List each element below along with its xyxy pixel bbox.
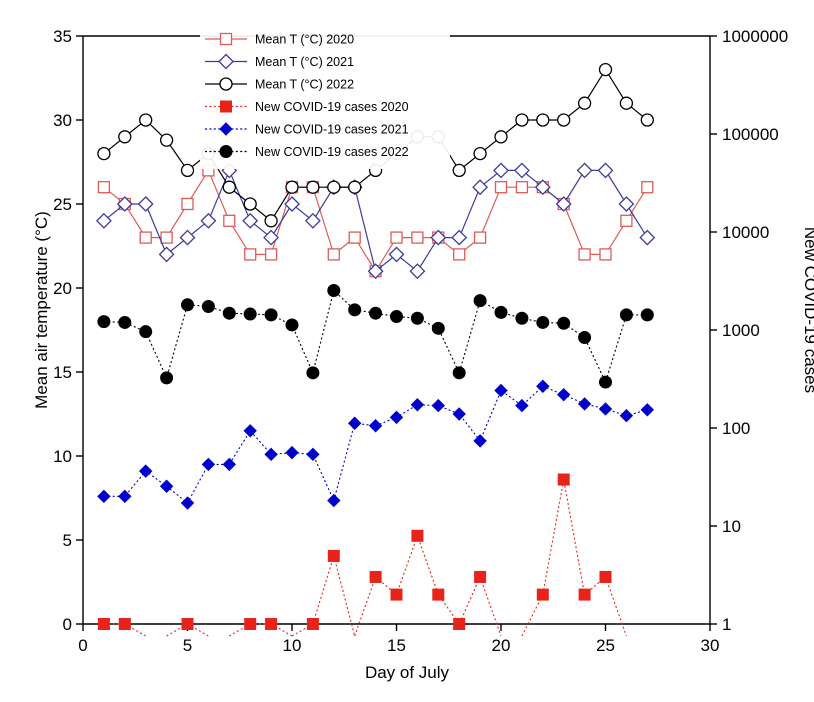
data-point (328, 550, 339, 561)
data-point (140, 465, 152, 477)
legend-label-4: New COVID-19 cases 2021 (255, 123, 409, 137)
data-point (328, 285, 340, 297)
x-axis-tick-label: 15 (387, 636, 406, 655)
data-point (452, 231, 466, 245)
data-point (619, 197, 633, 211)
data-point (266, 619, 277, 630)
data-point (265, 448, 277, 460)
data-point (412, 232, 423, 243)
data-point (453, 164, 465, 176)
data-point (244, 198, 256, 210)
data-point (558, 389, 570, 401)
data-point (307, 367, 319, 379)
data-point (558, 317, 570, 329)
data-point (620, 97, 632, 109)
x-axis-tick-label: 20 (492, 636, 511, 655)
data-point (516, 114, 528, 126)
data-point (119, 619, 130, 630)
chart-canvas: 0510152025303511010010001000010000010000… (0, 0, 814, 702)
y-axis-left-tick-label: 15 (53, 363, 72, 382)
legend-label-5: New COVID-19 cases 2022 (255, 145, 409, 159)
data-point (161, 480, 173, 492)
data-point (453, 367, 465, 379)
data-point (495, 384, 507, 396)
data-point (558, 114, 570, 126)
data-point (496, 182, 507, 193)
data-point (202, 458, 214, 470)
data-point (202, 300, 214, 312)
series-4 (98, 380, 653, 509)
legend-label-0: Mean T (°C) 2020 (255, 33, 354, 47)
data-point (370, 307, 382, 319)
data-point (119, 316, 131, 328)
y-axis-left-tick-label: 5 (63, 531, 72, 550)
legend-marker-3 (221, 101, 232, 112)
x-axis-tick-label: 5 (183, 636, 192, 655)
chart-legend: Mean T (°C) 2020Mean T (°C) 2021Mean T (… (200, 26, 450, 169)
data-point (306, 214, 320, 228)
series-3 (98, 474, 626, 636)
data-point (537, 316, 549, 328)
legend-label-1: Mean T (°C) 2021 (255, 55, 354, 69)
data-point (286, 447, 298, 459)
data-point (370, 571, 381, 582)
data-point (307, 619, 318, 630)
data-point (223, 307, 235, 319)
legend-label-3: New COVID-19 cases 2020 (255, 100, 409, 114)
data-point (161, 134, 173, 146)
data-point (265, 309, 277, 321)
data-point (139, 197, 153, 211)
data-point (265, 215, 277, 227)
data-point (286, 319, 298, 331)
data-point (537, 589, 548, 600)
data-point (98, 182, 109, 193)
data-point (641, 309, 653, 321)
data-point (97, 214, 111, 228)
data-point (182, 299, 194, 311)
data-point (475, 571, 486, 582)
data-point (98, 316, 110, 328)
x-axis-tick-label: 30 (701, 636, 720, 655)
data-point (411, 312, 423, 324)
data-point (98, 148, 110, 160)
data-point (349, 181, 361, 193)
data-point (182, 497, 194, 509)
data-point (182, 164, 194, 176)
data-point (474, 148, 486, 160)
data-point (349, 304, 361, 316)
data-point (495, 306, 507, 318)
data-point (473, 180, 487, 194)
data-point (433, 589, 444, 600)
data-point (494, 163, 508, 177)
data-point (516, 312, 528, 324)
x-axis-tick-label: 0 (78, 636, 87, 655)
y-axis-right-tick-label: 1000000 (722, 27, 788, 46)
data-point (245, 249, 256, 260)
data-point (140, 114, 152, 126)
y-axis-right-tick-label: 100000 (722, 125, 779, 144)
data-point (600, 376, 612, 388)
data-point (182, 199, 193, 210)
data-point (432, 322, 444, 334)
data-point (641, 404, 653, 416)
data-point (516, 182, 527, 193)
y-axis-left-tick-label: 35 (53, 27, 72, 46)
legend-label-2: Mean T (°C) 2022 (255, 78, 354, 92)
y-axis-right-tick-label: 100 (722, 419, 750, 438)
data-point (600, 249, 611, 260)
data-point (286, 181, 298, 193)
data-point (328, 181, 340, 193)
data-point (223, 458, 235, 470)
data-point (266, 249, 277, 260)
data-point (201, 214, 215, 228)
data-point (244, 308, 256, 320)
data-point (140, 232, 151, 243)
series-0 (98, 165, 652, 277)
data-point (245, 619, 256, 630)
data-point (161, 372, 173, 384)
data-point (390, 247, 404, 261)
data-point (98, 619, 109, 630)
data-point (621, 215, 632, 226)
series-line (104, 170, 647, 271)
data-point (453, 408, 465, 420)
y-axis-left-tick-label: 30 (53, 111, 72, 130)
y-axis-left-title: Mean air temperature (°C) (32, 180, 52, 440)
data-point (307, 448, 319, 460)
data-point (182, 619, 193, 630)
data-point (410, 264, 424, 278)
data-point (370, 420, 382, 432)
x-axis-title: Day of July (0, 663, 814, 683)
y-axis-right-title: New COVID-19 cases (800, 180, 814, 440)
data-point (349, 232, 360, 243)
data-point (454, 619, 465, 630)
y-axis-right-tick-label: 10 (722, 517, 741, 536)
data-point (578, 163, 592, 177)
data-point (641, 114, 653, 126)
series-5 (98, 285, 653, 389)
data-point (640, 231, 654, 245)
data-point (620, 410, 632, 422)
data-point (432, 400, 444, 412)
data-point (140, 326, 152, 338)
y-axis-left-tick-label: 10 (53, 447, 72, 466)
data-point (223, 181, 235, 193)
data-point (391, 311, 403, 323)
data-point (474, 295, 486, 307)
data-point (579, 97, 591, 109)
data-point (307, 181, 319, 193)
data-point (474, 435, 486, 447)
series-line (104, 170, 647, 271)
y-axis-right-tick-label: 10000 (722, 223, 769, 242)
data-point (537, 114, 549, 126)
data-point (620, 309, 632, 321)
legend-marker-0 (221, 34, 232, 45)
series-line (104, 480, 606, 624)
data-point (391, 232, 402, 243)
x-axis-tick-label: 25 (596, 636, 615, 655)
data-point (412, 530, 423, 541)
data-point (516, 400, 528, 412)
data-point (161, 232, 172, 243)
data-point (454, 249, 465, 260)
y-axis-left-tick-label: 25 (53, 195, 72, 214)
data-point (181, 231, 195, 245)
data-point (243, 214, 257, 228)
legend-marker-5 (220, 146, 232, 158)
data-point (391, 411, 403, 423)
data-point (328, 249, 339, 260)
x-axis-tick-label: 10 (283, 636, 302, 655)
data-point (579, 332, 591, 344)
data-point (411, 399, 423, 411)
y-axis-left-tick-label: 0 (63, 615, 72, 634)
data-point (600, 64, 612, 76)
data-point (642, 182, 653, 193)
data-point (264, 231, 278, 245)
data-point (119, 131, 131, 143)
data-point (391, 589, 402, 600)
data-point (349, 417, 361, 429)
data-point (285, 197, 299, 211)
data-point (537, 380, 549, 392)
y-axis-right-tick-label: 1000 (722, 321, 760, 340)
data-point (119, 490, 131, 502)
chart-figure: 0510152025303511010010001000010000010000… (0, 0, 814, 702)
data-point (579, 589, 590, 600)
data-point (160, 247, 174, 261)
data-point (224, 215, 235, 226)
data-point (579, 249, 590, 260)
data-point (600, 571, 611, 582)
data-point (328, 495, 340, 507)
data-point (558, 474, 569, 485)
data-point (599, 163, 613, 177)
data-point (495, 131, 507, 143)
data-point (579, 398, 591, 410)
data-point (600, 403, 612, 415)
data-point (515, 163, 529, 177)
y-axis-left-tick-label: 20 (53, 279, 72, 298)
legend-marker-2 (220, 78, 232, 90)
series-line (104, 386, 647, 503)
data-point (98, 490, 110, 502)
y-axis-right-tick-label: 1 (722, 615, 731, 634)
data-point (475, 232, 486, 243)
